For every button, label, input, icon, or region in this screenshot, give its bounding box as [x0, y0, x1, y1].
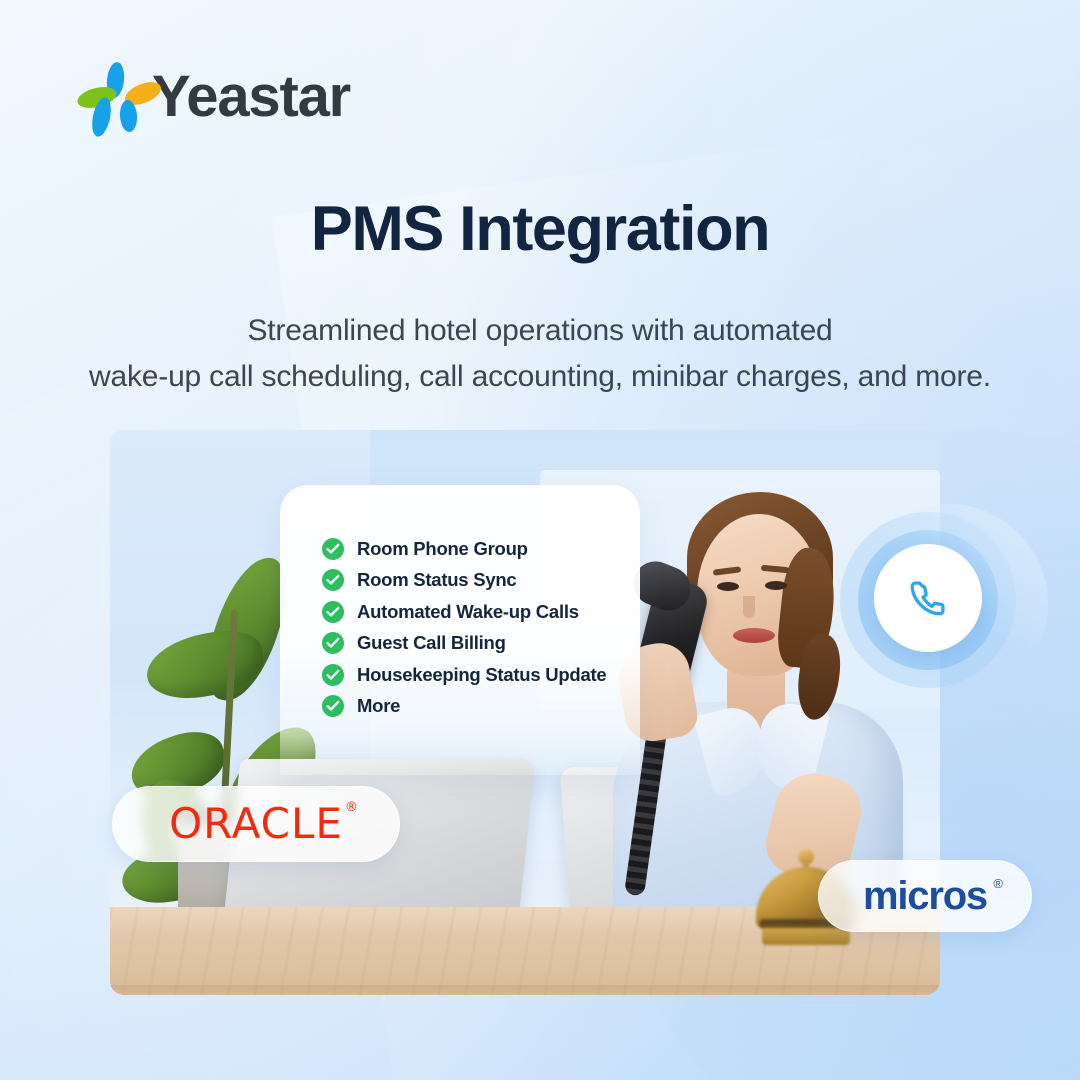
phone-badge-circle	[874, 544, 982, 652]
poster-canvas: Yeastar PMS Integration Streamlined hote…	[0, 0, 1080, 1080]
brand-wordmark: Yeastar	[152, 68, 350, 126]
page-title: PMS Integration	[0, 196, 1080, 263]
receptionist-lips	[733, 628, 775, 643]
oracle-logo-icon: ORACLE®	[169, 803, 343, 845]
subtitle-line-2: wake-up call scheduling, call accounting…	[0, 354, 1080, 400]
check-circle-icon	[322, 601, 344, 623]
list-item[interactable]: Housekeeping Status Update	[322, 659, 626, 691]
list-item[interactable]: More	[322, 691, 626, 723]
partner-badge-oracle[interactable]: ORACLE®	[112, 786, 400, 862]
list-item[interactable]: Guest Call Billing	[322, 628, 626, 660]
reception-desk-edge	[110, 985, 940, 995]
oracle-trademark: ®	[345, 801, 358, 814]
list-item[interactable]: Automated Wake-up Calls	[322, 596, 626, 628]
micros-logo-icon: micros®	[863, 876, 987, 916]
list-item-label: More	[357, 695, 400, 717]
check-circle-icon	[322, 664, 344, 686]
receptionist-eye-left	[717, 582, 739, 591]
check-circle-icon	[322, 569, 344, 591]
list-item-label: Guest Call Billing	[357, 632, 506, 654]
yeastar-flower-logo-icon	[78, 62, 138, 132]
receptionist-eye-right	[765, 581, 787, 590]
check-circle-icon	[322, 538, 344, 560]
plant-leaf	[142, 624, 269, 706]
oracle-label: ORACLE	[169, 799, 343, 848]
list-item-label: Automated Wake-up Calls	[357, 601, 579, 623]
page-subtitle: Streamlined hotel operations with automa…	[0, 308, 1080, 399]
feature-list: Room Phone Group Room Status Sync Automa…	[322, 533, 626, 722]
subtitle-line-1: Streamlined hotel operations with automa…	[0, 308, 1080, 354]
list-item-label: Room Status Sync	[357, 569, 516, 591]
list-item-label: Housekeeping Status Update	[357, 664, 606, 686]
phone-badge	[840, 512, 1016, 688]
phone-handset-icon	[907, 577, 949, 619]
micros-label: micros	[863, 874, 987, 918]
brand-logo: Yeastar	[78, 62, 350, 132]
receptionist-nose	[743, 596, 755, 618]
feature-card: Room Phone Group Room Status Sync Automa…	[280, 485, 640, 775]
check-circle-icon	[322, 695, 344, 717]
micros-trademark: ®	[993, 877, 1003, 890]
list-item[interactable]: Room Status Sync	[322, 565, 626, 597]
list-item[interactable]: Room Phone Group	[322, 533, 626, 565]
partner-badge-micros[interactable]: micros®	[818, 860, 1032, 932]
list-item-label: Room Phone Group	[357, 538, 528, 560]
check-circle-icon	[322, 632, 344, 654]
